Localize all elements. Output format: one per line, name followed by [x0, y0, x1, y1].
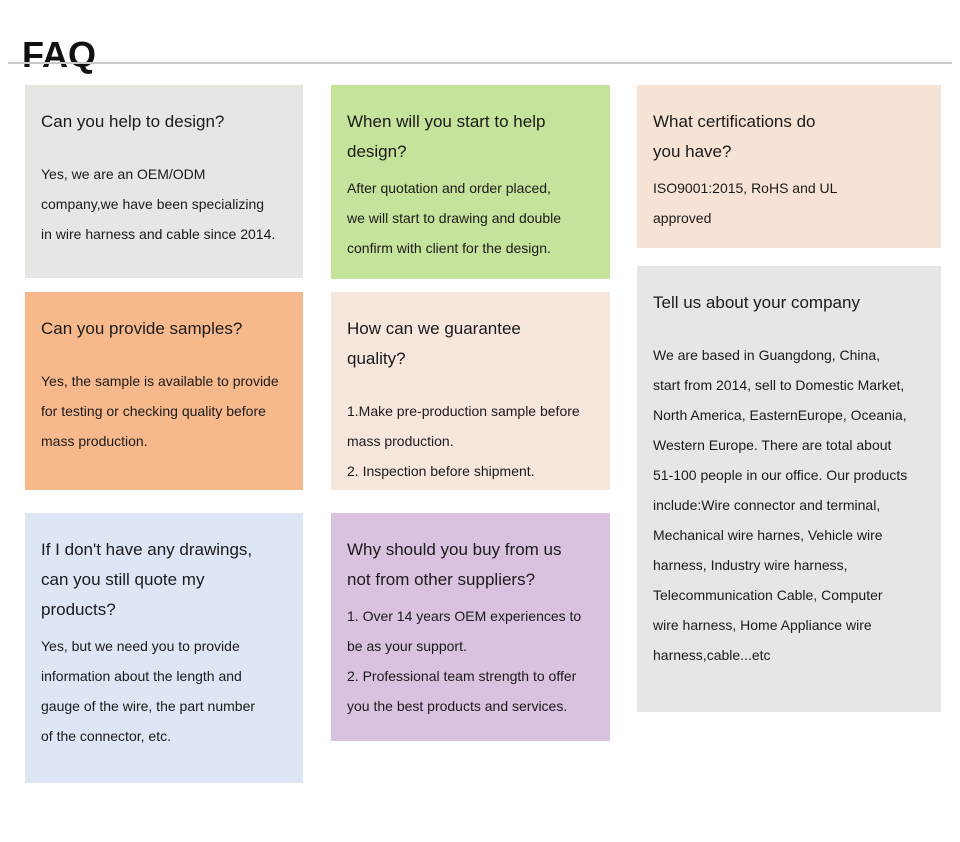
faq-card-start-design: When will you start to help design? Afte…	[331, 85, 610, 279]
faq-answer: 1. Over 14 years OEM experiences to be a…	[347, 601, 594, 721]
faq-answer: Yes, but we need you to provide informat…	[41, 631, 287, 751]
faq-question: Can you provide samples?	[41, 314, 287, 344]
faq-answer: 1.Make pre-production sample before mass…	[347, 396, 594, 486]
faq-card-quality: How can we guarantee quality? 1.Make pre…	[331, 292, 610, 490]
faq-question: Can you help to design?	[41, 107, 287, 137]
spacer	[347, 374, 594, 396]
page-title: FAQ	[22, 32, 96, 78]
faq-question: Why should you buy from us not from othe…	[347, 535, 594, 595]
faq-card-company: Tell us about your company We are based …	[637, 266, 941, 712]
spacer	[41, 137, 287, 159]
faq-page: FAQ Can you help to design? Yes, we are …	[0, 0, 960, 842]
faq-question: Tell us about your company	[653, 288, 925, 318]
spacer	[41, 344, 287, 366]
faq-card-design: Can you help to design? Yes, we are an O…	[25, 85, 303, 278]
faq-answer: We are based in Guangdong, China, start …	[653, 340, 925, 670]
faq-answer: Yes, we are an OEM/ODM company,we have b…	[41, 159, 287, 249]
faq-card-why-us: Why should you buy from us not from othe…	[331, 513, 610, 741]
faq-question: What certifications do you have?	[653, 107, 925, 167]
spacer	[653, 318, 925, 340]
faq-answer: After quotation and order placed, we wil…	[347, 173, 594, 263]
faq-card-certifications: What certifications do you have? ISO9001…	[637, 85, 941, 248]
title-divider	[8, 62, 952, 64]
faq-question: How can we guarantee quality?	[347, 314, 594, 374]
faq-card-samples: Can you provide samples? Yes, the sample…	[25, 292, 303, 490]
faq-answer: ISO9001:2015, RoHS and UL approved	[653, 173, 925, 233]
faq-answer: Yes, the sample is available to provide …	[41, 366, 287, 456]
faq-card-drawings: If I don't have any drawings, can you st…	[25, 513, 303, 783]
faq-question: When will you start to help design?	[347, 107, 594, 167]
faq-question: If I don't have any drawings, can you st…	[41, 535, 287, 625]
